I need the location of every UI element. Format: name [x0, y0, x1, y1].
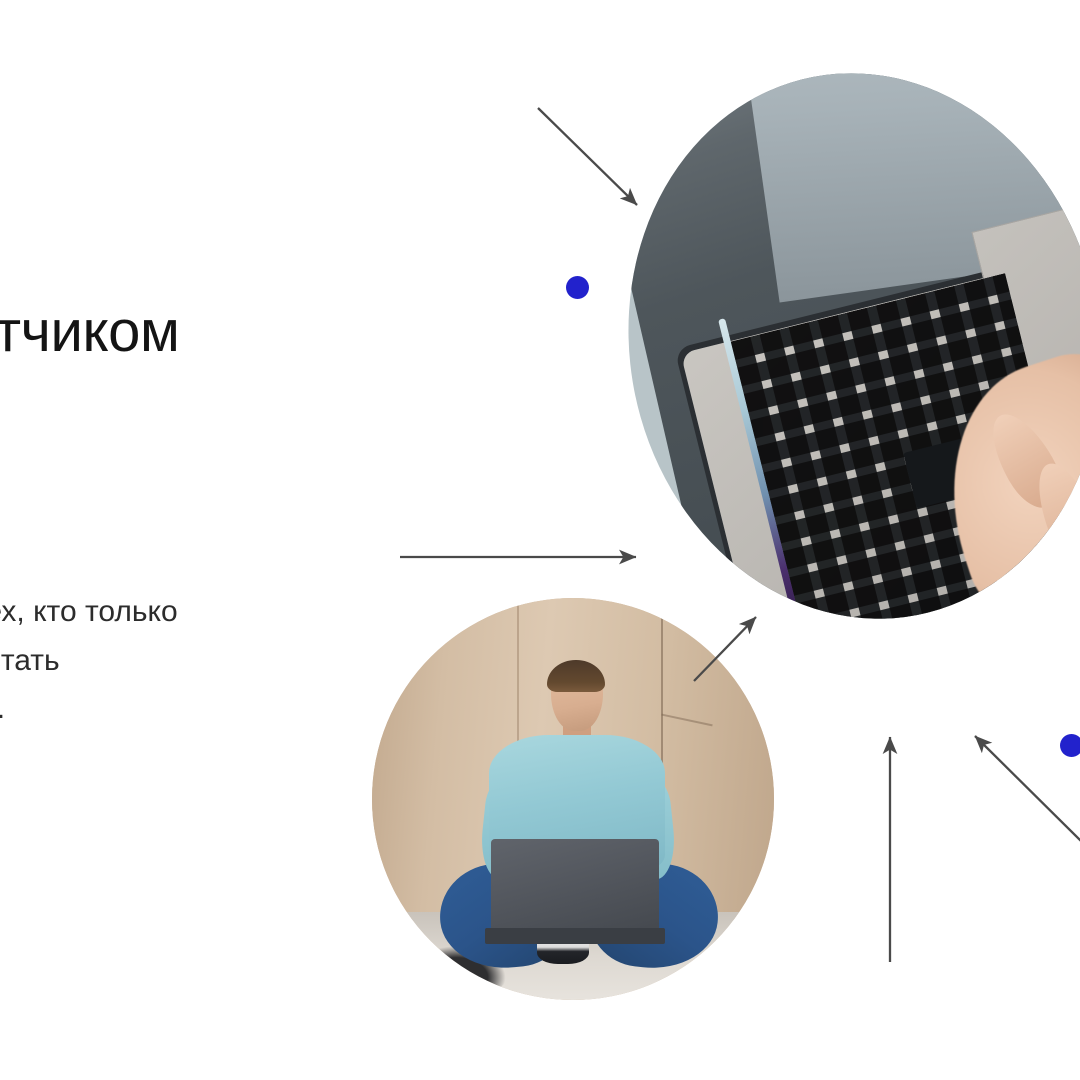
- body-line: Т и хочет стать: [0, 637, 410, 686]
- body-copy: има для тех, кто только Т и хочет стать …: [0, 588, 410, 734]
- blue-dot-accent: [1060, 734, 1080, 757]
- laptop-base: [485, 928, 666, 944]
- body-line: има для тех, кто только: [0, 588, 410, 637]
- laptop-typing-photo: [582, 32, 1080, 660]
- page-title: азработчиком: [0, 300, 570, 365]
- blue-dot-accent: [566, 276, 589, 299]
- presentation-slide: азработчиком има для тех, кто только Т и…: [0, 0, 1080, 1080]
- person-with-laptop-photo: [372, 598, 774, 1000]
- body-line: аботчиком.: [0, 685, 410, 734]
- laptop-screen: [491, 839, 660, 940]
- person-photo-content: [372, 598, 774, 1000]
- laptop-photo-content: [592, 32, 1080, 660]
